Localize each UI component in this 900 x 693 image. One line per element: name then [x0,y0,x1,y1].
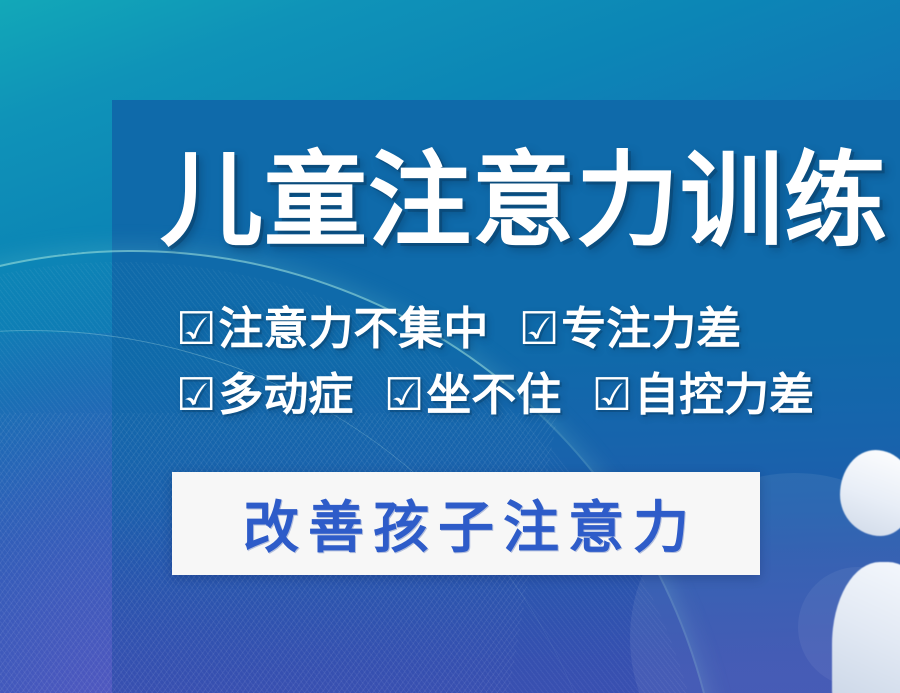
banner-content: 儿童注意力训练 ☑注意力不集中 ☑专注力差 ☑多动症 ☑坐不住 ☑自控力差 改善… [0,0,900,693]
benefit-item: ☑自控力差 [592,372,814,417]
checkbox-icon: ☑ [176,306,216,351]
benefit-row-2: ☑多动症 ☑坐不住 ☑自控力差 [176,372,876,417]
cta-box[interactable]: 改善孩子注意力 [172,472,760,575]
checkbox-icon: ☑ [384,372,424,417]
benefit-item: ☑坐不住 [384,372,561,417]
checkbox-icon: ☑ [519,306,559,351]
benefit-label: 专注力差 [561,303,741,354]
benefit-label: 自控力差 [634,369,814,420]
benefit-item: ☑专注力差 [519,306,741,351]
checkbox-icon: ☑ [592,372,632,417]
banner-headline: 儿童注意力训练 [160,146,900,255]
benefit-label: 注意力不集中 [218,303,488,354]
promo-banner: 儿童注意力训练 ☑注意力不集中 ☑专注力差 ☑多动症 ☑坐不住 ☑自控力差 改善… [0,0,900,693]
benefit-item: ☑多动症 [176,372,353,417]
benefit-label: 坐不住 [426,369,561,420]
checkbox-icon: ☑ [176,372,216,417]
benefit-label: 多动症 [218,369,353,420]
benefit-item: ☑注意力不集中 [176,306,488,351]
benefit-row-1: ☑注意力不集中 ☑专注力差 [176,306,876,351]
cta-label: 改善孩子注意力 [234,483,698,564]
